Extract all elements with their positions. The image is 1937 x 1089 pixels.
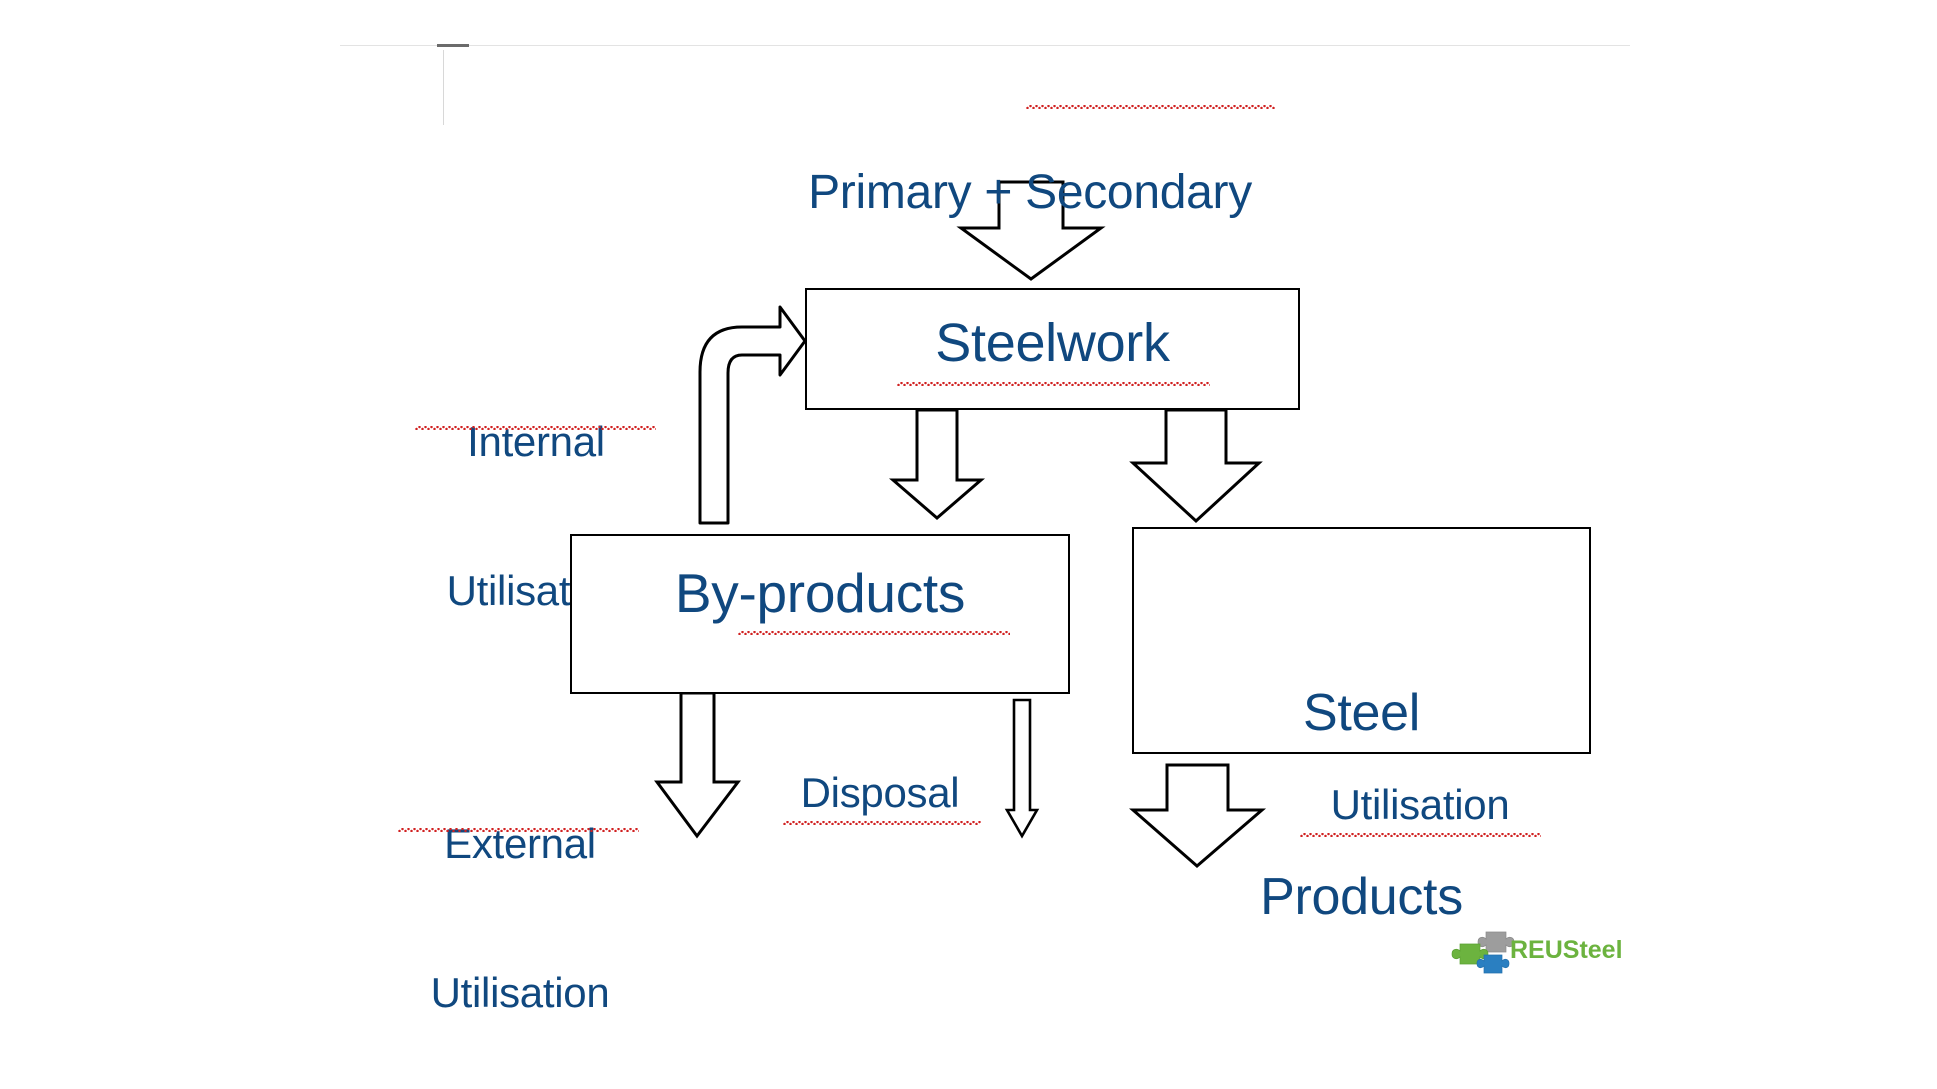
edge-label-disposal: Disposal [760,768,1000,818]
edge-label-utilisation: Utilisation [1280,780,1560,830]
edge-label-external-utilisation: External Utilisation [380,720,660,1089]
page-rule-marker [437,44,469,47]
spellcheck-underline-byproducts [738,631,1010,635]
reusteel-logo: REUSteel [1448,922,1623,984]
steelproducts-line1: Steel [1132,683,1591,744]
diagram-canvas: Primary + Secondary Raw Materials Steelw… [0,0,1937,1089]
external-utilisation-line1: External [380,819,660,869]
node-steelwork-label: Steelwork [805,312,1300,376]
spellcheck-underline-steelwork [897,382,1210,386]
spellcheck-underline-utilisation [1300,833,1541,837]
raw-materials-line1: Primary + Secondary [700,165,1360,222]
spellcheck-underline-internal-utilisation [415,426,656,430]
arrow-byproducts-disposal [1007,700,1037,836]
page-rule-vertical [443,50,444,125]
page-rule-horizontal [340,45,1630,46]
external-utilisation-line2: Utilisation [380,968,660,1018]
node-byproducts-label: By-products [570,561,1070,626]
internal-utilisation-line1: Internal [396,417,676,467]
spellcheck-underline-secondary [1026,105,1275,109]
spellcheck-underline-external-utilisation [398,828,639,832]
reusteel-logo-text: REUSteel [1510,936,1623,965]
arrow-byproducts-external-utilisation [657,693,738,836]
node-raw-materials: Primary + Secondary Raw Materials [700,52,1360,505]
steelproducts-line2: Products [1132,867,1591,928]
spellcheck-underline-disposal [783,821,981,825]
